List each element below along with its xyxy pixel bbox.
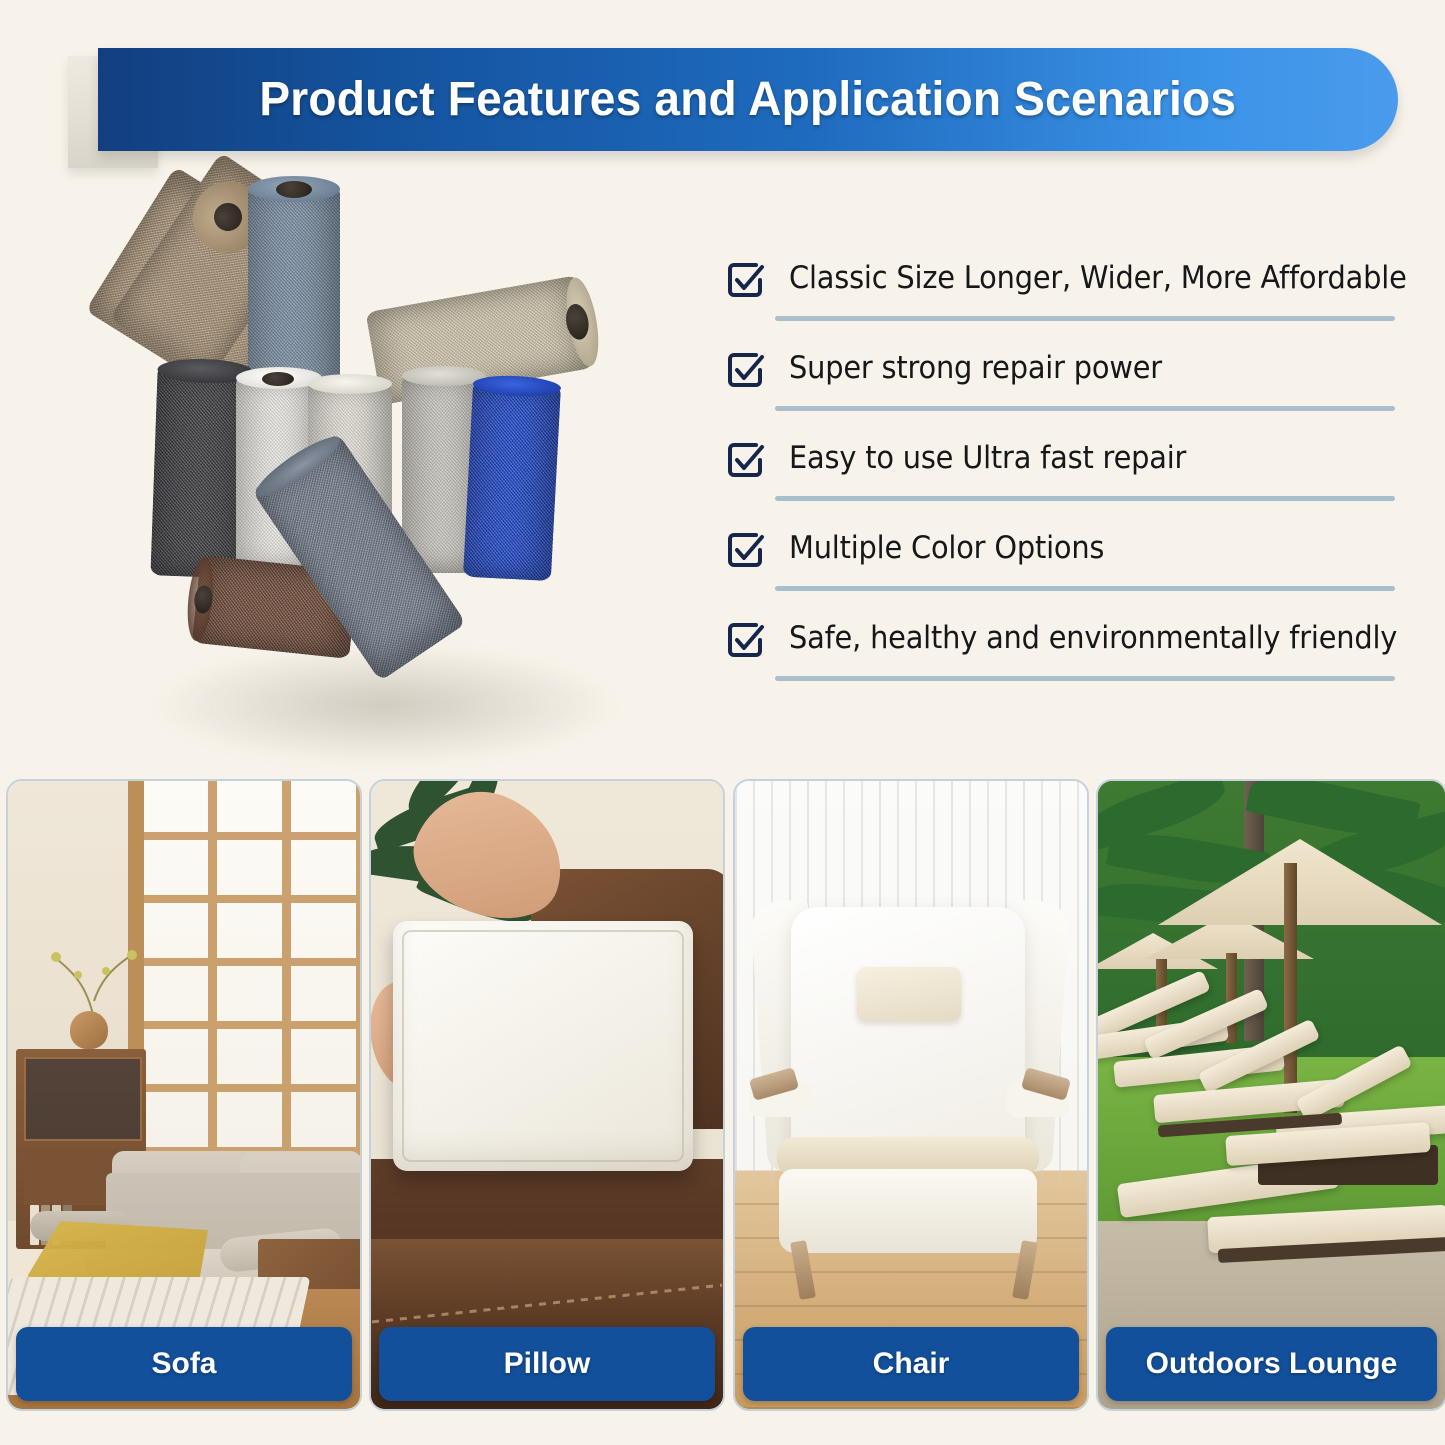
scenario-caption-label: Sofa — [151, 1347, 216, 1381]
scenario-caption-label: Outdoors Lounge — [1146, 1347, 1398, 1381]
feature-item: Multiple Color Options — [715, 518, 1405, 608]
page-title: Product Features and Application Scenari… — [260, 72, 1237, 127]
feature-item: Classic Size Longer, Wider, More Afforda… — [715, 248, 1405, 338]
tape-roll-royal-blue — [463, 381, 561, 581]
checkbox-checked-icon — [723, 348, 767, 392]
checkbox-checked-icon — [723, 528, 767, 572]
checkbox-checked-icon — [723, 438, 767, 482]
outdoors-lounge-photo — [1098, 781, 1445, 1409]
pillow-photo — [371, 781, 723, 1409]
scenario-caption-label: Chair — [873, 1347, 950, 1381]
scenario-card-list: Sofa Pillow — [0, 779, 1445, 1419]
feature-item: Super strong repair power — [715, 338, 1405, 428]
feature-divider — [775, 316, 1395, 321]
sofa-photo — [8, 781, 360, 1409]
feature-list: Classic Size Longer, Wider, More Afforda… — [715, 248, 1405, 698]
feature-divider — [775, 406, 1395, 411]
feature-label: Safe, healthy and environmentally friend… — [789, 616, 1397, 660]
chair-photo — [735, 781, 1087, 1409]
feature-divider — [775, 676, 1395, 681]
scenario-card-pillow[interactable]: Pillow — [369, 779, 725, 1411]
scenario-card-chair[interactable]: Chair — [733, 779, 1089, 1411]
feature-divider — [775, 586, 1395, 591]
header-banner: Product Features and Application Scenari… — [98, 48, 1398, 151]
scenario-caption-sofa: Sofa — [16, 1327, 352, 1401]
checkbox-checked-icon — [723, 618, 767, 662]
scenario-card-sofa[interactable]: Sofa — [6, 779, 362, 1411]
feature-item: Safe, healthy and environmentally friend… — [715, 608, 1405, 698]
feature-label: Multiple Color Options — [789, 526, 1104, 570]
product-hero-image — [120, 175, 660, 745]
checkbox-checked-icon — [723, 258, 767, 302]
scenario-caption-outdoors-lounge: Outdoors Lounge — [1106, 1327, 1437, 1401]
scenario-caption-label: Pillow — [504, 1347, 591, 1381]
feature-label: Classic Size Longer, Wider, More Afforda… — [789, 256, 1407, 300]
feature-label: Easy to use Ultra fast repair — [789, 436, 1186, 480]
feature-item: Easy to use Ultra fast repair — [715, 428, 1405, 518]
scenario-caption-pillow: Pillow — [379, 1327, 715, 1401]
scenario-caption-chair: Chair — [743, 1327, 1079, 1401]
feature-divider — [775, 496, 1395, 501]
scenario-card-outdoors-lounge[interactable]: Outdoors Lounge — [1096, 779, 1445, 1411]
feature-label: Super strong repair power — [789, 346, 1162, 390]
